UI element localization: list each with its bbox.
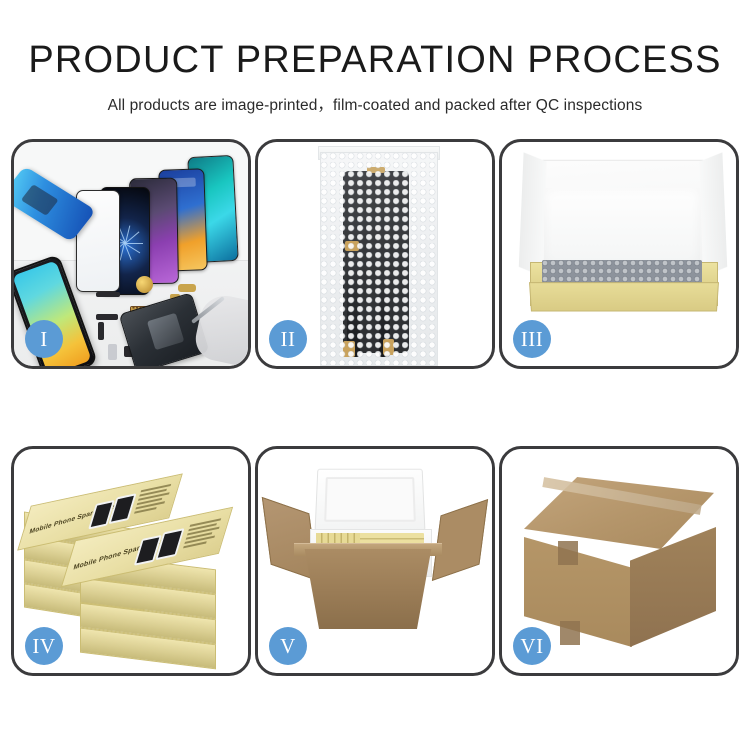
- foam-sheet-icon: [544, 188, 700, 266]
- panel-badge-2: II: [269, 320, 307, 358]
- part-flex-cable-2-icon: [98, 322, 104, 340]
- box-screen-image-icon: [108, 493, 136, 524]
- process-panel-3: III: [499, 139, 739, 369]
- part-battery-icon: [108, 344, 117, 360]
- process-panel-4: Mobile Phone Spare Parts Mobile Phone Sp…: [11, 446, 251, 676]
- panel-badge-4: IV: [25, 627, 63, 665]
- part-strip-icon: [96, 292, 120, 297]
- foam-box-lid-icon: [315, 469, 426, 531]
- carton-tape-patch-top-icon: [558, 541, 578, 565]
- process-panel-grid: I II: [11, 139, 739, 676]
- page-title: PRODUCT PREPARATION PROCESS: [0, 0, 750, 81]
- product-preparation-page: PRODUCT PREPARATION PROCESS All products…: [0, 0, 750, 750]
- panel-badge-5: V: [269, 627, 307, 665]
- page-header: PRODUCT PREPARATION PROCESS All products…: [0, 0, 750, 115]
- carton-flap-right-icon: [432, 499, 488, 581]
- process-panel-5: V: [255, 446, 495, 676]
- box-front-panel-icon: [529, 282, 719, 311]
- bubble-texture-icon: [321, 153, 437, 365]
- process-panel-2: II: [255, 139, 495, 369]
- part-flex-cable-icon: [96, 314, 118, 320]
- box-screen-image-icon: [155, 528, 184, 560]
- page-subtitle: All products are image-printed，film-coat…: [0, 81, 750, 115]
- bubble-wrap-bag-icon: [320, 152, 438, 366]
- process-panel-1: I: [11, 139, 251, 369]
- carton-tape-patch-bottom-icon: [560, 621, 580, 645]
- box-spec-lines-icon: [182, 518, 224, 551]
- panel-badge-6: VI: [513, 627, 551, 665]
- box-spec-lines-icon: [133, 483, 175, 516]
- panel-badge-3: III: [513, 320, 551, 358]
- process-panel-6: VI: [499, 446, 739, 676]
- carton-body-icon: [296, 549, 440, 629]
- panel-badge-1: I: [25, 320, 63, 358]
- part-connector-icon: [178, 284, 196, 292]
- part-speaker-icon: [136, 276, 153, 293]
